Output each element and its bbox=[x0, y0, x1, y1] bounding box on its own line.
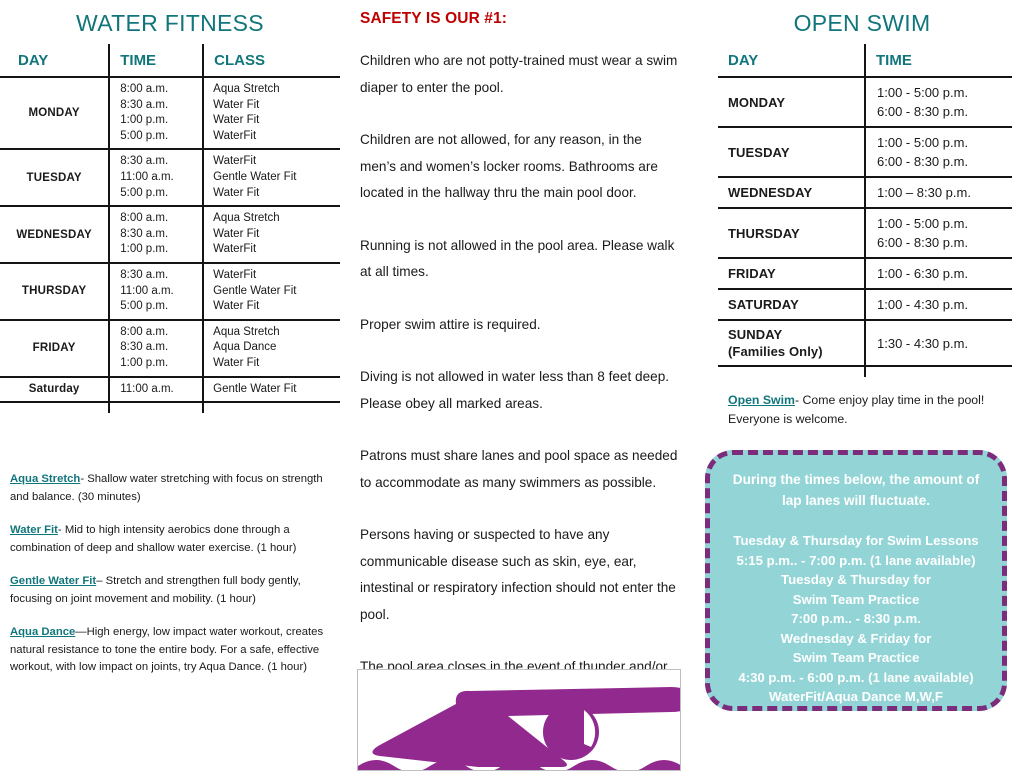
class-entry: WaterFit bbox=[213, 242, 340, 258]
class-description-term: Gentle Water Fit bbox=[10, 575, 96, 587]
class-entry: Gentle Water Fit bbox=[213, 170, 340, 186]
water-fitness-table: DAY TIME CLASS MONDAY8:00 a.m.8:30 a.m.1… bbox=[0, 44, 340, 413]
water-fitness-title: WATER FITNESS bbox=[0, 12, 340, 35]
column-header-class: CLASS bbox=[203, 44, 340, 77]
class-entry: Aqua Stretch bbox=[213, 325, 340, 341]
table-row: WEDNESDAY8:00 a.m.8:30 a.m.1:00 p.m.Aqua… bbox=[0, 206, 340, 263]
open-swim-column: OPEN SWIM DAY TIME MONDAY1:00 - 5:00 p.m… bbox=[700, 0, 1024, 429]
open-swim-day: WEDNESDAY bbox=[718, 177, 865, 208]
open-swim-times: 1:00 - 5:00 p.m.6:00 - 8:30 p.m. bbox=[865, 127, 1012, 177]
time-entry: 1:00 p.m. bbox=[120, 113, 202, 129]
water-fitness-day: FRIDAY bbox=[0, 320, 109, 377]
class-entry: Water Fit bbox=[213, 113, 340, 129]
class-description: Aqua Dance—High energy, low impact water… bbox=[10, 624, 326, 677]
water-fitness-times: 8:30 a.m.11:00 a.m.5:00 p.m. bbox=[109, 263, 203, 320]
time-entry: 8:00 a.m. bbox=[120, 325, 202, 341]
lane-notice-lines: Tuesday & Thursday for Swim Lessons5:15 … bbox=[722, 531, 990, 707]
open-swim-times: 1:30 - 4:30 p.m. bbox=[865, 320, 1012, 366]
table-row: TUESDAY1:00 - 5:00 p.m.6:00 - 8:30 p.m. bbox=[718, 127, 1012, 177]
lane-notice-line: Swim Team Practice bbox=[722, 590, 990, 610]
class-description-term: Aqua Stretch bbox=[10, 473, 80, 485]
water-fitness-classes: WaterFitGentle Water FitWater Fit bbox=[203, 263, 340, 320]
swimmer-icon bbox=[358, 670, 680, 770]
class-description: Aqua Stretch- Shallow water stretching w… bbox=[10, 471, 326, 506]
cell-spacer bbox=[109, 402, 203, 413]
cell-spacer bbox=[203, 402, 340, 413]
column-header-time: TIME bbox=[865, 44, 1012, 77]
open-swim-day: TUESDAY bbox=[718, 127, 865, 177]
lane-notice-line: 4:30 p.m. - 6:00 p.m. (1 lane available) bbox=[722, 668, 990, 688]
lane-notice-line: Tuesday & Thursday for bbox=[722, 570, 990, 590]
lane-availability-notice: During the times below, the amount of la… bbox=[705, 450, 1007, 711]
time-entry: 1:00 - 4:30 p.m. bbox=[877, 295, 1012, 314]
table-row: WEDNESDAY1:00 – 8:30 p.m. bbox=[718, 177, 1012, 208]
time-entry: 1:00 – 8:30 p.m. bbox=[877, 183, 1012, 202]
time-entry: 11:00 a.m. bbox=[120, 170, 202, 186]
safety-rule: Running is not allowed in the pool area.… bbox=[360, 233, 680, 286]
time-entry: 8:30 a.m. bbox=[120, 227, 202, 243]
safety-rule: Persons having or suspected to have any … bbox=[360, 522, 680, 628]
class-entry: Water Fit bbox=[213, 227, 340, 243]
table-row: SUNDAY(Families Only)1:30 - 4:30 p.m. bbox=[718, 320, 1012, 366]
column-header-time: TIME bbox=[109, 44, 203, 77]
time-entry: 8:30 a.m. bbox=[120, 98, 202, 114]
column-header-day: DAY bbox=[0, 44, 109, 77]
safety-rule: Children are not allowed, for any reason… bbox=[360, 127, 680, 207]
open-swim-description: Open Swim- Come enjoy play time in the p… bbox=[728, 391, 1010, 429]
open-swim-day: MONDAY bbox=[718, 77, 865, 127]
time-entry: 6:00 - 8:30 p.m. bbox=[877, 152, 1012, 171]
class-entry: Water Fit bbox=[213, 356, 340, 372]
time-entry: 11:00 a.m. bbox=[120, 284, 202, 300]
class-entry: WaterFit bbox=[213, 268, 340, 284]
cell-spacer bbox=[718, 366, 865, 377]
lane-notice-line: WaterFit/Aqua Dance M,W,F bbox=[722, 687, 990, 707]
table-row: FRIDAY8:00 a.m.8:30 a.m.1:00 p.m.Aqua St… bbox=[0, 320, 340, 377]
water-fitness-classes: WaterFitGentle Water FitWater Fit bbox=[203, 149, 340, 206]
class-description: Water Fit- Mid to high intensity aerobic… bbox=[10, 522, 326, 557]
water-fitness-times: 8:00 a.m.8:30 a.m.1:00 p.m. bbox=[109, 206, 203, 263]
safety-rules-list: Children who are not potty-trained must … bbox=[360, 48, 680, 734]
safety-rule: Children who are not potty-trained must … bbox=[360, 48, 680, 101]
time-entry: 1:30 - 4:30 p.m. bbox=[877, 334, 1012, 353]
water-fitness-times: 11:00 a.m. bbox=[109, 377, 203, 403]
safety-title: SAFETY IS OUR #1: bbox=[360, 10, 680, 28]
lane-notice-line: 7:00 p.m.. - 8:30 p.m. bbox=[722, 609, 990, 629]
time-entry: 6:00 - 8:30 p.m. bbox=[877, 233, 1012, 252]
table-footer-rule bbox=[718, 366, 1012, 377]
water-fitness-header-row: DAY TIME CLASS bbox=[0, 44, 340, 77]
open-swim-times: 1:00 - 6:30 p.m. bbox=[865, 258, 1012, 289]
class-entry: Water Fit bbox=[213, 98, 340, 114]
table-row: TUESDAY8:30 a.m.11:00 a.m.5:00 p.m.Water… bbox=[0, 149, 340, 206]
open-swim-day-note: (Families Only) bbox=[728, 343, 864, 360]
table-row: Saturday11:00 a.m.Gentle Water Fit bbox=[0, 377, 340, 403]
class-entry: Gentle Water Fit bbox=[213, 284, 340, 300]
water-fitness-day: Saturday bbox=[0, 377, 109, 403]
time-entry: 5:00 p.m. bbox=[120, 186, 202, 202]
swimmer-image-frame bbox=[357, 669, 681, 771]
water-fitness-classes: Gentle Water Fit bbox=[203, 377, 340, 403]
table-row: THURSDAY1:00 - 5:00 p.m.6:00 - 8:30 p.m. bbox=[718, 208, 1012, 258]
open-swim-header-row: DAY TIME bbox=[718, 44, 1012, 77]
open-swim-day: FRIDAY bbox=[718, 258, 865, 289]
safety-rule: Diving is not allowed in water less than… bbox=[360, 364, 680, 417]
time-entry: 6:00 - 8:30 p.m. bbox=[877, 102, 1012, 121]
open-swim-day: SUNDAY(Families Only) bbox=[718, 320, 865, 366]
open-swim-times: 1:00 – 8:30 p.m. bbox=[865, 177, 1012, 208]
class-entry: Aqua Stretch bbox=[213, 211, 340, 227]
time-entry: 5:00 p.m. bbox=[120, 299, 202, 315]
table-row: MONDAY1:00 - 5:00 p.m.6:00 - 8:30 p.m. bbox=[718, 77, 1012, 127]
class-description-term: Water Fit bbox=[10, 524, 58, 536]
table-row: THURSDAY8:30 a.m.11:00 a.m.5:00 p.m.Wate… bbox=[0, 263, 340, 320]
lane-notice-line: Tuesday & Thursday for Swim Lessons bbox=[722, 531, 990, 551]
water-fitness-times: 8:00 a.m.8:30 a.m.1:00 p.m. bbox=[109, 320, 203, 377]
class-entry: Water Fit bbox=[213, 186, 340, 202]
column-header-day: DAY bbox=[718, 44, 865, 77]
water-fitness-times: 8:30 a.m.11:00 a.m.5:00 p.m. bbox=[109, 149, 203, 206]
safety-rule: Proper swim attire is required. bbox=[360, 312, 680, 339]
class-description-term: Aqua Dance bbox=[10, 626, 75, 638]
water-fitness-day: TUESDAY bbox=[0, 149, 109, 206]
class-entry: Aqua Stretch bbox=[213, 82, 340, 98]
water-fitness-classes: Aqua StretchAqua DanceWater Fit bbox=[203, 320, 340, 377]
water-fitness-day: THURSDAY bbox=[0, 263, 109, 320]
time-entry: 8:30 a.m. bbox=[120, 340, 202, 356]
time-entry: 1:00 - 5:00 p.m. bbox=[877, 83, 1012, 102]
time-entry: 1:00 p.m. bbox=[120, 242, 202, 258]
lane-notice-line: Swim Team Practice bbox=[722, 648, 990, 668]
open-swim-description-term: Open Swim bbox=[728, 393, 795, 407]
lane-notice-spacer bbox=[722, 511, 990, 531]
class-entry: Water Fit bbox=[213, 299, 340, 315]
open-swim-table: DAY TIME MONDAY1:00 - 5:00 p.m.6:00 - 8:… bbox=[718, 44, 1012, 377]
open-swim-day: THURSDAY bbox=[718, 208, 865, 258]
water-fitness-classes: Aqua StretchWater FitWater FitWaterFit bbox=[203, 77, 340, 149]
cell-spacer bbox=[0, 402, 109, 413]
lane-notice-line: Wednesday & Friday for bbox=[722, 629, 990, 649]
cell-spacer bbox=[865, 366, 1012, 377]
class-entry: WaterFit bbox=[213, 129, 340, 145]
open-swim-title: OPEN SWIM bbox=[700, 12, 1024, 35]
time-entry: 8:00 a.m. bbox=[120, 82, 202, 98]
table-row: SATURDAY1:00 - 4:30 p.m. bbox=[718, 289, 1012, 320]
time-entry: 11:00 a.m. bbox=[120, 382, 202, 398]
time-entry: 1:00 - 6:30 p.m. bbox=[877, 264, 1012, 283]
class-entry: WaterFit bbox=[213, 154, 340, 170]
class-entry: Gentle Water Fit bbox=[213, 382, 340, 398]
class-description: Gentle Water Fit– Stretch and strengthen… bbox=[10, 573, 326, 608]
open-swim-times: 1:00 - 4:30 p.m. bbox=[865, 289, 1012, 320]
lane-notice-lead: During the times below, the amount of la… bbox=[722, 469, 990, 511]
table-row: MONDAY8:00 a.m.8:30 a.m.1:00 p.m.5:00 p.… bbox=[0, 77, 340, 149]
water-fitness-times: 8:00 a.m.8:30 a.m.1:00 p.m.5:00 p.m. bbox=[109, 77, 203, 149]
time-entry: 8:00 a.m. bbox=[120, 211, 202, 227]
water-fitness-day: WEDNESDAY bbox=[0, 206, 109, 263]
time-entry: 5:00 p.m. bbox=[120, 129, 202, 145]
table-footer-rule bbox=[0, 402, 340, 413]
class-entry: Aqua Dance bbox=[213, 340, 340, 356]
water-fitness-day: MONDAY bbox=[0, 77, 109, 149]
lane-notice-line: 5:15 p.m.. - 7:00 p.m. (1 lane available… bbox=[722, 551, 990, 571]
time-entry: 1:00 p.m. bbox=[120, 356, 202, 372]
time-entry: 1:00 - 5:00 p.m. bbox=[877, 133, 1012, 152]
class-descriptions: Aqua Stretch- Shallow water stretching w… bbox=[0, 471, 340, 677]
table-row: FRIDAY1:00 - 6:30 p.m. bbox=[718, 258, 1012, 289]
open-swim-times: 1:00 - 5:00 p.m.6:00 - 8:30 p.m. bbox=[865, 77, 1012, 127]
time-entry: 1:00 - 5:00 p.m. bbox=[877, 214, 1012, 233]
safety-rule: Patrons must share lanes and pool space … bbox=[360, 443, 680, 496]
open-swim-day: SATURDAY bbox=[718, 289, 865, 320]
time-entry: 8:30 a.m. bbox=[120, 268, 202, 284]
time-entry: 8:30 a.m. bbox=[120, 154, 202, 170]
open-swim-day-line: SUNDAY bbox=[728, 326, 864, 343]
water-fitness-classes: Aqua StretchWater FitWaterFit bbox=[203, 206, 340, 263]
water-fitness-column: WATER FITNESS DAY TIME CLASS MONDAY8:00 … bbox=[0, 0, 340, 693]
safety-column: SAFETY IS OUR #1: Children who are not p… bbox=[360, 0, 680, 760]
open-swim-times: 1:00 - 5:00 p.m.6:00 - 8:30 p.m. bbox=[865, 208, 1012, 258]
